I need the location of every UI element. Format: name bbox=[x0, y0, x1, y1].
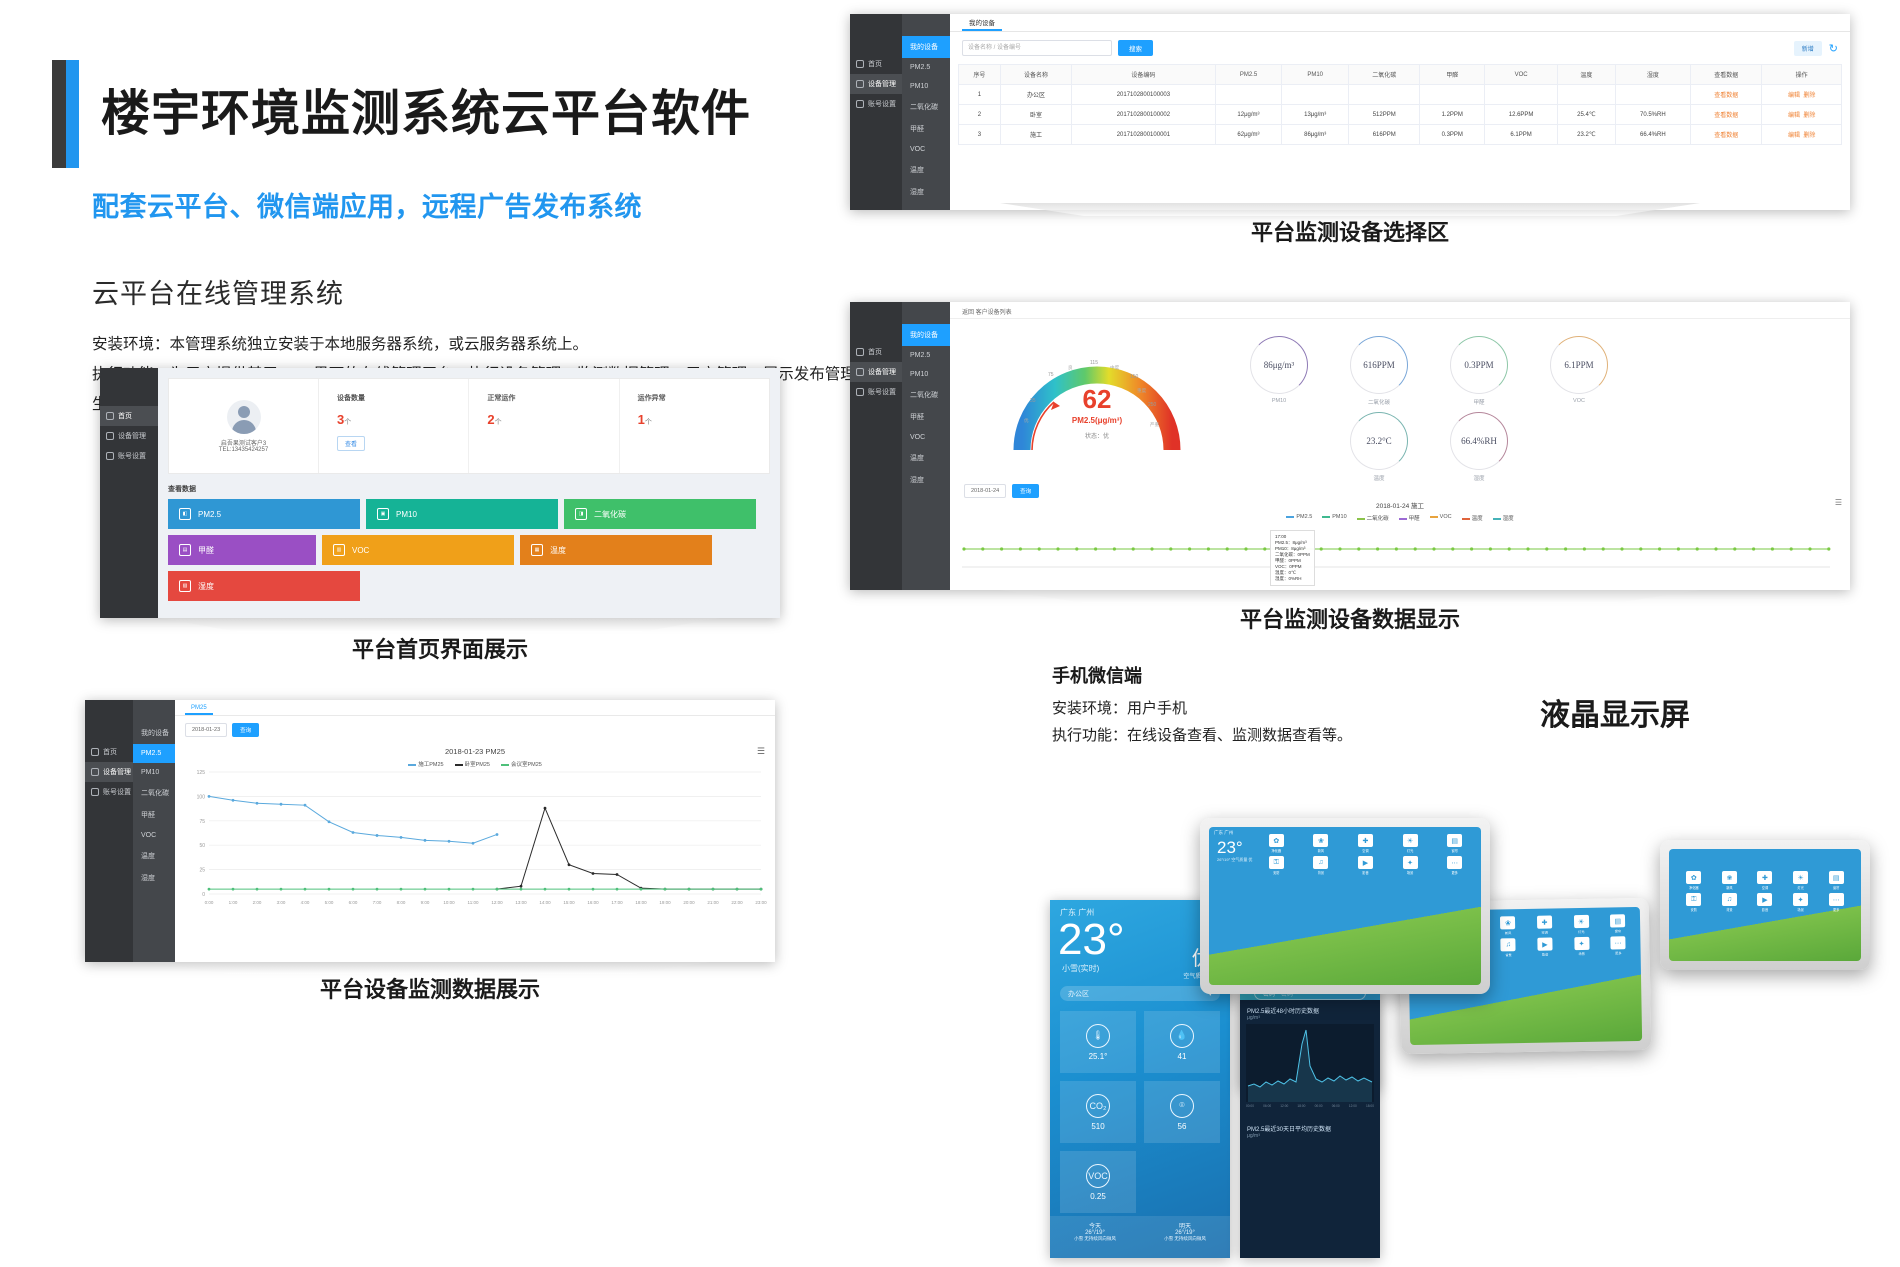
lcd-tile-label: 影音 bbox=[1344, 870, 1387, 875]
lcd-tile-label: 净化器 bbox=[1255, 848, 1298, 853]
lcd-tile-灯光[interactable]: ☀灯光 bbox=[1389, 834, 1432, 853]
wechat-history-screen[interactable]: PM2.5最近48小时历史数据 μg/m³ 00:0006:0012:0018:… bbox=[1240, 1000, 1380, 1258]
metric-ring-caption-3: VOC bbox=[1550, 398, 1608, 404]
view-data-link[interactable]: 查看数据 bbox=[1714, 133, 1738, 139]
sidebar-item-label: 设备管理 bbox=[118, 431, 146, 441]
sidebar-item-label: 首页 bbox=[103, 747, 117, 757]
sidebar-item-home[interactable]: 首页 bbox=[850, 54, 902, 74]
lcd-tile-label: 空调 bbox=[1748, 885, 1782, 890]
line-tabbar: PM25 bbox=[175, 700, 775, 716]
lcd-tile-空调[interactable]: ✚空调 bbox=[1748, 871, 1782, 890]
sub-title: 配套云平台、微信端应用，远程广告发布系统 bbox=[92, 185, 642, 224]
submenu-item-VOC[interactable]: VOC bbox=[133, 826, 175, 845]
gauge-chart-title: 2018-01-24 施工 bbox=[950, 500, 1850, 510]
table-row[interactable]: 1办公区2017102800100003查看数据编辑 删除 bbox=[959, 85, 1842, 105]
metric-tile-label: 温度 bbox=[550, 545, 566, 556]
submenu-item-PM10[interactable]: PM10 bbox=[902, 77, 950, 96]
lcd-tile-灯光[interactable]: ☀灯光 bbox=[1784, 871, 1818, 890]
svg-text:0: 0 bbox=[202, 892, 205, 898]
lcd-icon-grid[interactable]: ✿净化器❀新风✚空调☀灯光▤窗帘⚿安防♫背景▶影音✦场景⋯更多 bbox=[1677, 871, 1853, 912]
phone-chart-unit-2: μg/m³ bbox=[1240, 1133, 1380, 1139]
caption-monitor: 平台设备监测数据展示 bbox=[85, 972, 775, 1004]
lcd-tile-场景[interactable]: ✦场景 bbox=[1389, 856, 1432, 875]
sidebar-item-label: 设备管理 bbox=[868, 79, 896, 89]
sidebar-item-device[interactable]: 设备管理 bbox=[85, 762, 133, 782]
edit-link[interactable]: 编辑 bbox=[1788, 93, 1800, 99]
cell-actions[interactable]: 编辑 删除 bbox=[1762, 125, 1842, 145]
metric-ring-caption-1: 二氧化碳 bbox=[1350, 398, 1408, 406]
xtick: 00:00 bbox=[1315, 1104, 1323, 1108]
metric-tile-label: PM10 bbox=[396, 510, 417, 519]
cell-name: 施工 bbox=[1000, 125, 1071, 145]
sidebar-item-label: 账号设置 bbox=[868, 387, 896, 397]
metric-ring-3: 6.1PPM bbox=[1550, 336, 1608, 394]
wechat-line-2: 执行功能：在线设备查看、监测数据查看等。 bbox=[1052, 722, 1352, 749]
lcd-tile-icon: ▤ bbox=[1447, 834, 1462, 847]
main-title-text: 楼宇环境监测系统云平台软件 bbox=[101, 60, 751, 168]
device-data-screenshot[interactable]: 首页 设备管理 账号设置 我的设备PM2.5PM10二氧化碳甲醛VOC温度湿度 … bbox=[850, 302, 1850, 590]
query-button[interactable]: 查询 bbox=[1012, 484, 1039, 498]
svg-text:9:00: 9:00 bbox=[421, 900, 430, 905]
forecast-label: 明天 bbox=[1140, 1221, 1230, 1230]
stat-normal: 正常运作 2个 bbox=[469, 379, 619, 473]
legend-swatch bbox=[1399, 518, 1407, 520]
metric-tile-label: 二氧化碳 bbox=[594, 509, 626, 520]
stat-value: 1个 bbox=[638, 412, 769, 427]
tab-my-devices[interactable]: 我的设备 bbox=[962, 15, 1002, 31]
submenu-item-甲醛[interactable]: 甲醛 bbox=[902, 406, 950, 428]
phone-metric-value: 41 bbox=[1178, 1052, 1187, 1061]
sidebar-item-device[interactable]: 设备管理 bbox=[850, 74, 902, 94]
phone-metric-thermometer[interactable]: 🌡25.1° bbox=[1060, 1011, 1136, 1073]
lcd-tile-icon: ♫ bbox=[1501, 938, 1516, 951]
lcd-tile-背景[interactable]: ♫背景 bbox=[1491, 938, 1526, 958]
cell-view[interactable]: 查看数据 bbox=[1691, 125, 1762, 145]
cell-code: 2017102800100003 bbox=[1072, 85, 1216, 105]
device-table: 序号设备名称设备编码PM2.5PM10二氧化碳甲醛VOC温度湿度查看数据操作 1… bbox=[958, 64, 1842, 145]
forecast-label: 今天 bbox=[1050, 1221, 1140, 1230]
home-content: 启吾果测试客户3 TEL:13435424257 设备数量 3个 查看 正常运作… bbox=[158, 368, 780, 618]
user-tel: TEL:13435424257 bbox=[219, 447, 268, 453]
svg-text:8:00: 8:00 bbox=[397, 900, 406, 905]
lcd-tile-影音[interactable]: ▶影音 bbox=[1748, 893, 1782, 912]
gauge-sidebar[interactable]: 首页 设备管理 账号设置 bbox=[850, 302, 902, 590]
lcd-tile-icon: ✿ bbox=[1269, 834, 1284, 847]
line-controls: 2018-01-23 查询 bbox=[175, 716, 775, 744]
submenu-item-PM10[interactable]: PM10 bbox=[902, 365, 950, 384]
svg-text:20:00: 20:00 bbox=[683, 900, 695, 905]
home-icon bbox=[106, 412, 114, 420]
device-icon bbox=[91, 768, 99, 776]
gear-icon bbox=[856, 388, 864, 396]
submenu-item-PM2.5[interactable]: PM2.5 bbox=[902, 58, 950, 77]
detail-button[interactable]: 查看 bbox=[337, 436, 365, 451]
gear-icon bbox=[91, 788, 99, 796]
lcd-tile-icon: ✿ bbox=[1686, 871, 1701, 884]
lcd-tile-icon: ❀ bbox=[1313, 834, 1328, 847]
table-row[interactable]: 2卧室201710280010000212μg/m³13μg/m³512PPM1… bbox=[959, 105, 1842, 125]
submenu-item-PM2.5[interactable]: PM2.5 bbox=[902, 346, 950, 365]
legend-item-甲醛[interactable]: 甲醛 bbox=[1399, 514, 1420, 522]
lcd-tile-安防[interactable]: ⚿安防 bbox=[1255, 856, 1298, 875]
cell-humid: 66.4%RH bbox=[1615, 125, 1690, 145]
lcd-tile-label: 背景 bbox=[1300, 870, 1343, 875]
lcd-tile-label: 空调 bbox=[1344, 848, 1387, 853]
lcd-tile-场景[interactable]: ✦场景 bbox=[1564, 937, 1599, 957]
phone-metric-value: 56 bbox=[1178, 1122, 1187, 1131]
cell-pm10: 86μg/m³ bbox=[1282, 125, 1349, 145]
svg-text:13:00: 13:00 bbox=[515, 900, 527, 905]
submenu-item-VOC[interactable]: VOC bbox=[902, 428, 950, 447]
shadow-line bbox=[150, 962, 710, 974]
phone-metric-value: 510 bbox=[1091, 1122, 1104, 1131]
edit-link[interactable]: 编辑 bbox=[1788, 133, 1800, 139]
xtick: 18:00 bbox=[1366, 1104, 1374, 1108]
toolbar-right: 新增 ↻ bbox=[1794, 41, 1838, 56]
svg-text:7:00: 7:00 bbox=[373, 900, 382, 905]
metric-tile-pm10[interactable]: ▣PM10 bbox=[366, 499, 558, 529]
lcd-tile-更多[interactable]: ⋯更多 bbox=[1433, 856, 1476, 875]
cell-pm25: 62μg/m³ bbox=[1215, 125, 1282, 145]
gauge-label-liang: 良 bbox=[1068, 365, 1073, 371]
lcd-tile-label: 窗帘 bbox=[1819, 885, 1853, 890]
gear-icon bbox=[856, 100, 864, 108]
lcd-tile-影音[interactable]: ▶影音 bbox=[1344, 856, 1387, 875]
lcd-tile-label: 场景 bbox=[1564, 951, 1599, 957]
svg-text:6:00: 6:00 bbox=[349, 900, 358, 905]
svg-text:11:00: 11:00 bbox=[468, 900, 479, 905]
view-data-label: 查看数据 bbox=[168, 484, 770, 494]
legend-item-湿度[interactable]: 湿度 bbox=[1493, 514, 1514, 522]
cell-temp: 23.2℃ bbox=[1558, 125, 1616, 145]
gauge-timeline-svg bbox=[956, 527, 1836, 572]
cell-hcho: 1.2PPM bbox=[1420, 105, 1485, 125]
table-sidebar[interactable]: 首页 设备管理 账号设置 bbox=[850, 14, 902, 210]
lcd-tile-窗帘[interactable]: ▤窗帘 bbox=[1819, 871, 1853, 890]
sidebar-item-device[interactable]: 设备管理 bbox=[100, 426, 158, 446]
date-input[interactable]: 2018-01-23 bbox=[185, 723, 227, 737]
col-查看数据: 查看数据 bbox=[1691, 65, 1762, 85]
sidebar-item-home[interactable]: 首页 bbox=[85, 742, 133, 762]
line-submenu[interactable]: 我的设备PM2.5PM10二氧化碳甲醛VOC温度湿度 bbox=[133, 700, 175, 962]
cell-pm25: 12μg/m³ bbox=[1215, 105, 1282, 125]
lcd-tile-净化器[interactable]: ✿净化器 bbox=[1255, 834, 1298, 853]
submenu-item-我的设备[interactable]: 我的设备 bbox=[133, 722, 175, 744]
svg-text:16:00: 16:00 bbox=[587, 900, 599, 905]
sidebar-item-home[interactable]: 首页 bbox=[100, 406, 158, 426]
metric-tile-temp[interactable]: ▦温度 bbox=[520, 535, 712, 565]
lcd-panel-mid: 广东 广州 23° 26°/19° 空气质量 优 ✿净化器❀新风✚空调☀灯光▤窗… bbox=[1200, 818, 1490, 994]
forecast-desc: 小雪 无持续风向微风 bbox=[1050, 1236, 1140, 1242]
gauge-tick-250: 250 bbox=[1148, 402, 1156, 408]
cell-temp: 25.4℃ bbox=[1558, 105, 1616, 125]
cell-voc: 6.1PPM bbox=[1485, 125, 1558, 145]
sidebar-item-account[interactable]: 账号设置 bbox=[100, 446, 158, 466]
shadow-gauge bbox=[1000, 590, 1700, 603]
humid-icon: ▧ bbox=[179, 580, 191, 592]
table-tabbar: 我的设备 bbox=[950, 14, 1850, 32]
section-title: 云平台在线管理系统 bbox=[92, 272, 344, 311]
lcd-tile-label: 影音 bbox=[1748, 907, 1782, 912]
tab-pm25[interactable]: PM25 bbox=[185, 703, 213, 715]
legend-item-温度[interactable]: 温度 bbox=[1462, 514, 1483, 522]
svg-text:125: 125 bbox=[197, 770, 206, 776]
svg-text:14:00: 14:00 bbox=[539, 900, 551, 905]
lcd-tile-label: 灯光 bbox=[1784, 885, 1818, 890]
metric-tile-pm25[interactable]: ◧PM2.5 bbox=[168, 499, 360, 529]
lcd-tile-label: 背景 bbox=[1491, 952, 1526, 958]
pm10-icon: ▣ bbox=[377, 508, 389, 520]
sidebar-item-label: 首页 bbox=[868, 59, 882, 69]
home-dashboard-screenshot[interactable]: 首页 设备管理 账号设置 启吾果测试客户3 TEL:13435424257 设备… bbox=[100, 368, 780, 618]
lcd-tile-灯光[interactable]: ☀灯光 bbox=[1564, 915, 1599, 935]
svg-text:18:00: 18:00 bbox=[635, 900, 647, 905]
voc-icon: VOC bbox=[1086, 1164, 1110, 1188]
metric-tile-label: 甲醛 bbox=[198, 545, 214, 556]
xtick: 06:00 bbox=[1332, 1104, 1340, 1108]
legend-swatch bbox=[1462, 518, 1470, 520]
gauge-tick-115: 115 bbox=[1090, 360, 1098, 366]
delete-link[interactable]: 删除 bbox=[1803, 113, 1815, 119]
cell-no: 1 bbox=[959, 85, 1001, 105]
lcd-tile-label: 窗帘 bbox=[1433, 848, 1476, 853]
monitor-chart-screenshot[interactable]: 首页 设备管理 账号设置 我的设备PM2.5PM10二氧化碳甲醛VOC温度湿度 … bbox=[85, 700, 775, 962]
temp-icon: ▦ bbox=[531, 544, 543, 556]
caption-home: 平台首页界面展示 bbox=[100, 632, 780, 664]
query-button[interactable]: 查询 bbox=[232, 723, 259, 737]
search-button[interactable]: 搜索 bbox=[1118, 40, 1153, 56]
xtick: 12:00 bbox=[1280, 1104, 1288, 1108]
lcd-tile-label: 安防 bbox=[1677, 907, 1711, 912]
metric-tile-hcho[interactable]: ▤甲醛 bbox=[168, 535, 316, 565]
line-sidebar[interactable]: 首页 设备管理 账号设置 bbox=[85, 700, 133, 962]
home-sidebar[interactable]: 首页 设备管理 账号设置 bbox=[100, 368, 158, 618]
home-summary-card: 启吾果测试客户3 TEL:13435424257 设备数量 3个 查看 正常运作… bbox=[168, 378, 770, 474]
lcd-tile-影音[interactable]: ▶影音 bbox=[1528, 937, 1563, 957]
submenu-item-湿度[interactable]: 湿度 bbox=[133, 867, 175, 889]
lcd-icon-grid[interactable]: ✿净化器❀新风✚空调☀灯光▤窗帘⚿安防♫背景▶影音✦场景⋯更多 bbox=[1255, 834, 1476, 875]
metric-tile-humid[interactable]: ▧湿度 bbox=[168, 571, 360, 601]
date-input[interactable]: 2018-01-24 bbox=[964, 484, 1006, 498]
metric-tile-label: PM2.5 bbox=[198, 510, 221, 519]
phone-metric-voc[interactable]: VOC0.25 bbox=[1060, 1151, 1136, 1213]
lcd-tile-icon: ▶ bbox=[1757, 893, 1772, 906]
device-list-screenshot[interactable]: 首页 设备管理 账号设置 我的设备PM2.5PM10二氧化碳甲醛VOC温度湿度 … bbox=[850, 14, 1850, 210]
lcd-tile-icon: ♫ bbox=[1313, 856, 1328, 869]
submenu-item-PM2.5[interactable]: PM2.5 bbox=[133, 744, 175, 763]
delete-link[interactable]: 删除 bbox=[1803, 133, 1815, 139]
metric-ring-4: 23.2°C bbox=[1350, 412, 1408, 470]
zone-select[interactable]: 办公区 ▾ bbox=[1060, 986, 1220, 1001]
lcd-tile-icon: ✚ bbox=[1537, 916, 1552, 929]
submenu-item-VOC[interactable]: VOC bbox=[902, 140, 950, 159]
lcd-tile-icon: ☀ bbox=[1403, 834, 1418, 847]
cell-actions[interactable]: 编辑 删除 bbox=[1762, 105, 1842, 125]
lcd-tile-icon: ✦ bbox=[1793, 893, 1808, 906]
refresh-icon[interactable]: ↻ bbox=[1829, 42, 1838, 55]
xtick: 12:00 bbox=[1349, 1104, 1357, 1108]
gauge-label-yanzhong: 严重 bbox=[1150, 422, 1159, 428]
legend-item-二氧化碳[interactable]: 二氧化碳 bbox=[1357, 514, 1389, 522]
svg-text:10:00: 10:00 bbox=[443, 900, 455, 905]
forecast-desc: 小雪 无持续风向微风 bbox=[1140, 1236, 1230, 1242]
gauge-tick-35: 35 bbox=[1030, 398, 1036, 404]
lcd-tile-label: 更多 bbox=[1433, 870, 1476, 875]
gauge-submenu[interactable]: 我的设备PM2.5PM10二氧化碳甲醛VOC温度湿度 bbox=[902, 302, 950, 590]
cell-view[interactable]: 查看数据 bbox=[1691, 105, 1762, 125]
phone-metric-value: 0.25 bbox=[1090, 1192, 1106, 1201]
sidebar-item-account[interactable]: 账号设置 bbox=[85, 782, 133, 802]
gauge-state: 状态：优 bbox=[1002, 431, 1192, 440]
sidebar-item-account[interactable]: 账号设置 bbox=[850, 94, 902, 114]
sidebar-item-label: 设备管理 bbox=[103, 767, 131, 777]
svg-text:21:00: 21:00 bbox=[707, 900, 719, 905]
lcd-tile-安防[interactable]: ⚿安防 bbox=[1677, 893, 1711, 912]
svg-text:5:00: 5:00 bbox=[325, 900, 334, 905]
col-PM2.5: PM2.5 bbox=[1215, 65, 1282, 85]
metric-tile-co2[interactable]: ◨二氧化碳 bbox=[564, 499, 756, 529]
lcd-tile-icon: ⚿ bbox=[1269, 856, 1284, 869]
metric-tile-label: 湿度 bbox=[198, 581, 214, 592]
legend-item-PM10[interactable]: PM10 bbox=[1322, 514, 1346, 522]
sidebar-item-label: 设备管理 bbox=[868, 367, 896, 377]
lcd-tile-icon: ✦ bbox=[1574, 937, 1589, 950]
submenu-item-我的设备[interactable]: 我的设备 bbox=[902, 36, 950, 58]
lcd-tile-icon: ☀ bbox=[1574, 915, 1589, 928]
hamburger-icon[interactable]: ☰ bbox=[1835, 498, 1842, 507]
forecast-tomorrow: 明天 26°/19° 小雪 无持续风向微风 bbox=[1140, 1216, 1230, 1258]
cell-co2: 616PPM bbox=[1349, 125, 1420, 145]
lcd-tile-空调[interactable]: ✚空调 bbox=[1344, 834, 1387, 853]
lcd-tile-更多[interactable]: ⋯更多 bbox=[1819, 893, 1853, 912]
cell-voc bbox=[1485, 85, 1558, 105]
lcd-tile-label: 背景 bbox=[1713, 907, 1747, 912]
sidebar-item-home[interactable]: 首页 bbox=[850, 342, 902, 362]
phone-chart-unit: μg/m³ bbox=[1240, 1015, 1380, 1021]
submenu-item-甲醛[interactable]: 甲醛 bbox=[902, 118, 950, 140]
svg-text:22:00: 22:00 bbox=[731, 900, 743, 905]
lcd-tile-新风[interactable]: ❀新风 bbox=[1491, 916, 1526, 936]
user-panel: 启吾果测试客户3 TEL:13435424257 bbox=[169, 379, 319, 473]
submenu-item-二氧化碳[interactable]: 二氧化碳 bbox=[902, 384, 950, 406]
legend-item-PM2.5[interactable]: PM2.5 bbox=[1286, 514, 1312, 522]
gauge-content: 返回 客户设备列表 62 PM2.5(μg/m bbox=[950, 302, 1850, 590]
lcd-tile-icon: ⋯ bbox=[1611, 936, 1626, 949]
breadcrumb[interactable]: 返回 客户设备列表 bbox=[950, 302, 1850, 319]
view-data-link[interactable]: 查看数据 bbox=[1714, 113, 1738, 119]
gauge-label-you: 优 bbox=[1024, 418, 1029, 424]
phone-chart-svg bbox=[1246, 1024, 1374, 1102]
cell-hcho bbox=[1420, 85, 1485, 105]
metric-tile-voc[interactable]: ▥VOC bbox=[322, 535, 514, 565]
hamburger-icon[interactable]: ☰ bbox=[757, 746, 765, 757]
shadow-table bbox=[1000, 203, 1700, 216]
lcd-tile-label: 窗帘 bbox=[1601, 928, 1636, 934]
lcd-tile-净化器[interactable]: ✿净化器 bbox=[1677, 871, 1711, 890]
stat-unit: 个 bbox=[344, 419, 351, 426]
cell-temp bbox=[1558, 85, 1616, 105]
stat-value: 2个 bbox=[487, 412, 618, 427]
metric-ring-2: 0.3PPM bbox=[1450, 336, 1508, 394]
lcd-tile-背景[interactable]: ♫背景 bbox=[1300, 856, 1343, 875]
forecast-today: 今天 26°/19° 小雪 无持续风向微风 bbox=[1050, 1216, 1140, 1258]
legend-item-VOC[interactable]: VOC bbox=[1430, 514, 1452, 522]
svg-text:0:00: 0:00 bbox=[205, 900, 214, 905]
search-input[interactable]: 设备名称 / 设备编号 bbox=[962, 40, 1112, 56]
lcd-tile-新风[interactable]: ❀新风 bbox=[1713, 871, 1747, 890]
phone-metric-co2[interactable]: CO₂510 bbox=[1060, 1081, 1136, 1143]
lcd-tile-窗帘[interactable]: ▤窗帘 bbox=[1600, 914, 1635, 934]
lcd-tile-更多[interactable]: ⋯更多 bbox=[1601, 936, 1636, 956]
lcd-tile-窗帘[interactable]: ▤窗帘 bbox=[1433, 834, 1476, 853]
table-row[interactable]: 3施工201710280010000162μg/m³86μg/m³616PPM0… bbox=[959, 125, 1842, 145]
submenu-item-二氧化碳[interactable]: 二氧化碳 bbox=[133, 782, 175, 804]
sidebar-item-account[interactable]: 账号设置 bbox=[850, 382, 902, 402]
add-device-button[interactable]: 新增 bbox=[1794, 41, 1822, 56]
voc-icon: ▥ bbox=[333, 544, 345, 556]
col-甲醛: 甲醛 bbox=[1420, 65, 1485, 85]
cell-view[interactable]: 查看数据 bbox=[1691, 85, 1762, 105]
cell-no: 2 bbox=[959, 105, 1001, 125]
cell-pm10 bbox=[1282, 85, 1349, 105]
home-icon bbox=[856, 348, 864, 356]
caption-device-select: 平台监测设备选择区 bbox=[850, 215, 1850, 247]
metric-tile-label: VOC bbox=[352, 546, 369, 555]
lcd-tile-空调[interactable]: ✚空调 bbox=[1527, 915, 1562, 935]
sidebar-item-device[interactable]: 设备管理 bbox=[850, 362, 902, 382]
line-content: PM25 2018-01-23 查询 2018-01-23 PM25 施工PM2… bbox=[175, 700, 775, 962]
phone-metric-pm25[interactable]: ⌾56 bbox=[1144, 1081, 1220, 1143]
submenu-item-温度[interactable]: 温度 bbox=[133, 845, 175, 867]
caption-device-data: 平台监测设备数据显示 bbox=[850, 602, 1850, 634]
lcd-tile-icon: ✚ bbox=[1757, 871, 1772, 884]
table-submenu[interactable]: 我的设备PM2.5PM10二氧化碳甲醛VOC温度湿度 bbox=[902, 14, 950, 210]
lcd-tile-场景[interactable]: ✦场景 bbox=[1784, 893, 1818, 912]
lcd-tile-icon: ▤ bbox=[1610, 914, 1625, 927]
submenu-item-湿度[interactable]: 湿度 bbox=[902, 181, 950, 203]
title-bar-blue bbox=[66, 60, 79, 168]
svg-text:100: 100 bbox=[197, 794, 206, 800]
col-序号: 序号 bbox=[959, 65, 1001, 85]
submenu-item-我的设备[interactable]: 我的设备 bbox=[902, 324, 950, 346]
edit-link[interactable]: 编辑 bbox=[1788, 113, 1800, 119]
col-湿度: 湿度 bbox=[1615, 65, 1690, 85]
delete-link[interactable]: 删除 bbox=[1803, 93, 1815, 99]
metric-ring-caption-0: PM10 bbox=[1250, 398, 1308, 404]
phone-metric-humidity[interactable]: 💧41 bbox=[1144, 1011, 1220, 1073]
view-data-link[interactable]: 查看数据 bbox=[1714, 93, 1738, 99]
chart-title: 2018-01-23 PM25 bbox=[175, 747, 775, 756]
user-name: 启吾果测试客户3 bbox=[221, 438, 266, 447]
submenu-item-甲醛[interactable]: 甲醛 bbox=[133, 804, 175, 826]
stat-device-count: 设备数量 3个 查看 bbox=[319, 379, 469, 473]
lcd-tile-新风[interactable]: ❀新风 bbox=[1300, 834, 1343, 853]
lcd-tile-label: 净化器 bbox=[1677, 885, 1711, 890]
title-bar-dark bbox=[52, 60, 66, 168]
submenu-item-PM10[interactable]: PM10 bbox=[133, 763, 175, 782]
lcd-tile-背景[interactable]: ♫背景 bbox=[1713, 893, 1747, 912]
submenu-item-温度[interactable]: 温度 bbox=[902, 159, 950, 181]
sidebar-item-label: 账号设置 bbox=[868, 99, 896, 109]
cell-name: 卧室 bbox=[1000, 105, 1071, 125]
submenu-item-二氧化碳[interactable]: 二氧化碳 bbox=[902, 96, 950, 118]
submenu-item-湿度[interactable]: 湿度 bbox=[902, 469, 950, 491]
metric-ring-caption-2: 甲醛 bbox=[1450, 398, 1508, 406]
svg-text:17:00: 17:00 bbox=[611, 900, 623, 905]
legend-swatch bbox=[1430, 516, 1438, 518]
cell-actions[interactable]: 编辑 删除 bbox=[1762, 85, 1842, 105]
submenu-item-温度[interactable]: 温度 bbox=[902, 447, 950, 469]
